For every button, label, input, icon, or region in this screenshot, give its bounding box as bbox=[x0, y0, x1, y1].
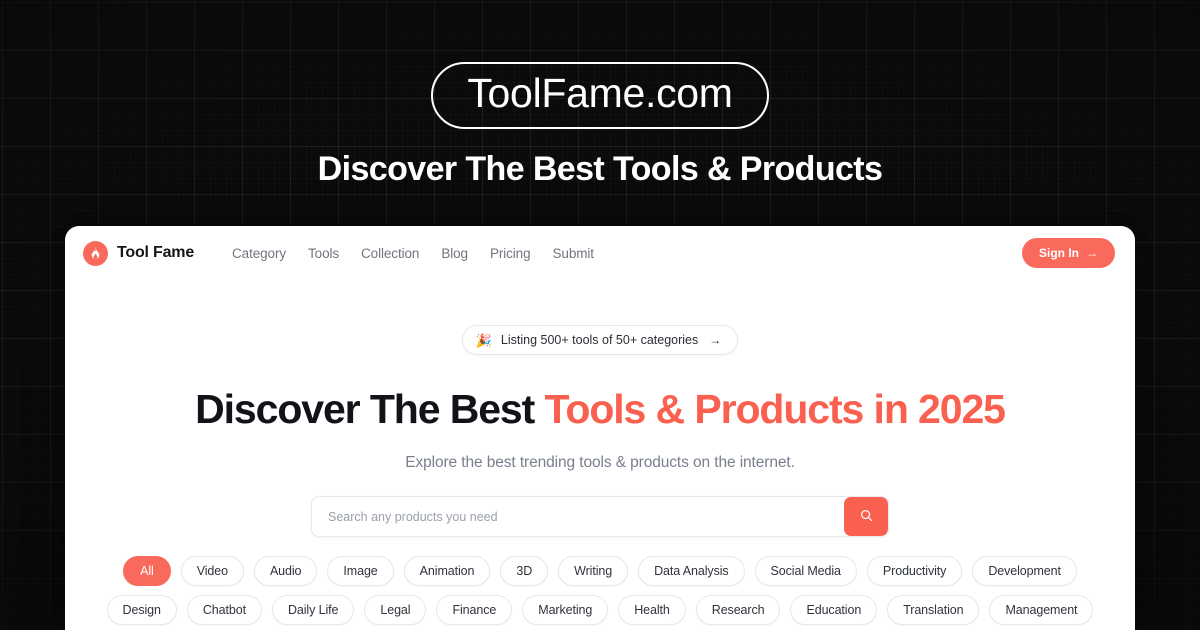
hero-section: 🎉 Listing 500+ tools of 50+ categories →… bbox=[65, 280, 1135, 630]
hero-subtitle: Explore the best trending tools & produc… bbox=[405, 454, 795, 472]
og-tagline: Discover The Best Tools & Products bbox=[318, 150, 883, 189]
flame-icon bbox=[83, 241, 108, 266]
logo-text: Tool Fame bbox=[117, 244, 194, 262]
party-popper-icon: 🎉 bbox=[476, 334, 492, 347]
category-chip-video[interactable]: Video bbox=[181, 556, 244, 586]
og-header: ToolFame.com Discover The Best Tools & P… bbox=[0, 0, 1200, 226]
nav-links: Category Tools Collection Blog Pricing S… bbox=[232, 246, 594, 261]
category-chip-all[interactable]: All bbox=[123, 556, 171, 586]
category-chip-marketing[interactable]: Marketing bbox=[522, 595, 608, 625]
category-chip-research[interactable]: Research bbox=[696, 595, 781, 625]
category-chip-chatbot[interactable]: Chatbot bbox=[187, 595, 262, 625]
category-chip-audio[interactable]: Audio bbox=[254, 556, 317, 586]
category-chip-image[interactable]: Image bbox=[327, 556, 393, 586]
arrow-right-icon: → bbox=[1086, 246, 1098, 260]
nav-link-blog[interactable]: Blog bbox=[441, 246, 468, 261]
nav-link-submit[interactable]: Submit bbox=[553, 246, 594, 261]
category-chip-writing[interactable]: Writing bbox=[558, 556, 628, 586]
category-chip-legal[interactable]: Legal bbox=[364, 595, 426, 625]
arrow-right-icon: → bbox=[709, 333, 721, 347]
category-chip-daily-life[interactable]: Daily Life bbox=[272, 595, 354, 625]
category-chip-education[interactable]: Education bbox=[790, 595, 877, 625]
category-chip-development[interactable]: Development bbox=[972, 556, 1077, 586]
headline-plain: Discover The Best bbox=[195, 386, 544, 432]
category-chip-management[interactable]: Management bbox=[989, 595, 1093, 625]
listing-badge[interactable]: 🎉 Listing 500+ tools of 50+ categories → bbox=[462, 325, 739, 355]
logo[interactable]: Tool Fame bbox=[83, 241, 194, 266]
nav-link-category[interactable]: Category bbox=[232, 246, 286, 261]
category-chip-productivity[interactable]: Productivity bbox=[867, 556, 962, 586]
search-bar bbox=[311, 496, 889, 537]
sign-in-button[interactable]: Sign In → bbox=[1022, 238, 1115, 268]
brand-pill: ToolFame.com bbox=[431, 62, 768, 129]
nav-link-tools[interactable]: Tools bbox=[308, 246, 339, 261]
nav-link-collection[interactable]: Collection bbox=[361, 246, 419, 261]
category-chip-3d[interactable]: 3D bbox=[500, 556, 548, 586]
category-chip-finance[interactable]: Finance bbox=[436, 595, 512, 625]
search-icon bbox=[859, 508, 874, 526]
category-chip-social-media[interactable]: Social Media bbox=[755, 556, 857, 586]
sign-in-label: Sign In bbox=[1039, 246, 1079, 260]
category-chip-animation[interactable]: Animation bbox=[404, 556, 491, 586]
page-title: Discover The Best Tools & Products in 20… bbox=[195, 386, 1005, 433]
category-chip-list: All Video Audio Image Animation 3D Writi… bbox=[88, 556, 1112, 630]
listing-badge-label: Listing 500+ tools of 50+ categories bbox=[501, 333, 698, 347]
search-button[interactable] bbox=[844, 497, 888, 536]
category-chip-data-analysis[interactable]: Data Analysis bbox=[638, 556, 744, 586]
category-chip-design[interactable]: Design bbox=[107, 595, 177, 625]
nav-link-pricing[interactable]: Pricing bbox=[490, 246, 531, 261]
category-chip-health[interactable]: Health bbox=[618, 595, 686, 625]
headline-accent: Tools & Products in 2025 bbox=[544, 386, 1004, 432]
navbar: Tool Fame Category Tools Collection Blog… bbox=[65, 226, 1135, 280]
category-chip-translation[interactable]: Translation bbox=[887, 595, 979, 625]
search-input[interactable] bbox=[312, 497, 844, 536]
site-preview-card: Tool Fame Category Tools Collection Blog… bbox=[65, 226, 1135, 630]
